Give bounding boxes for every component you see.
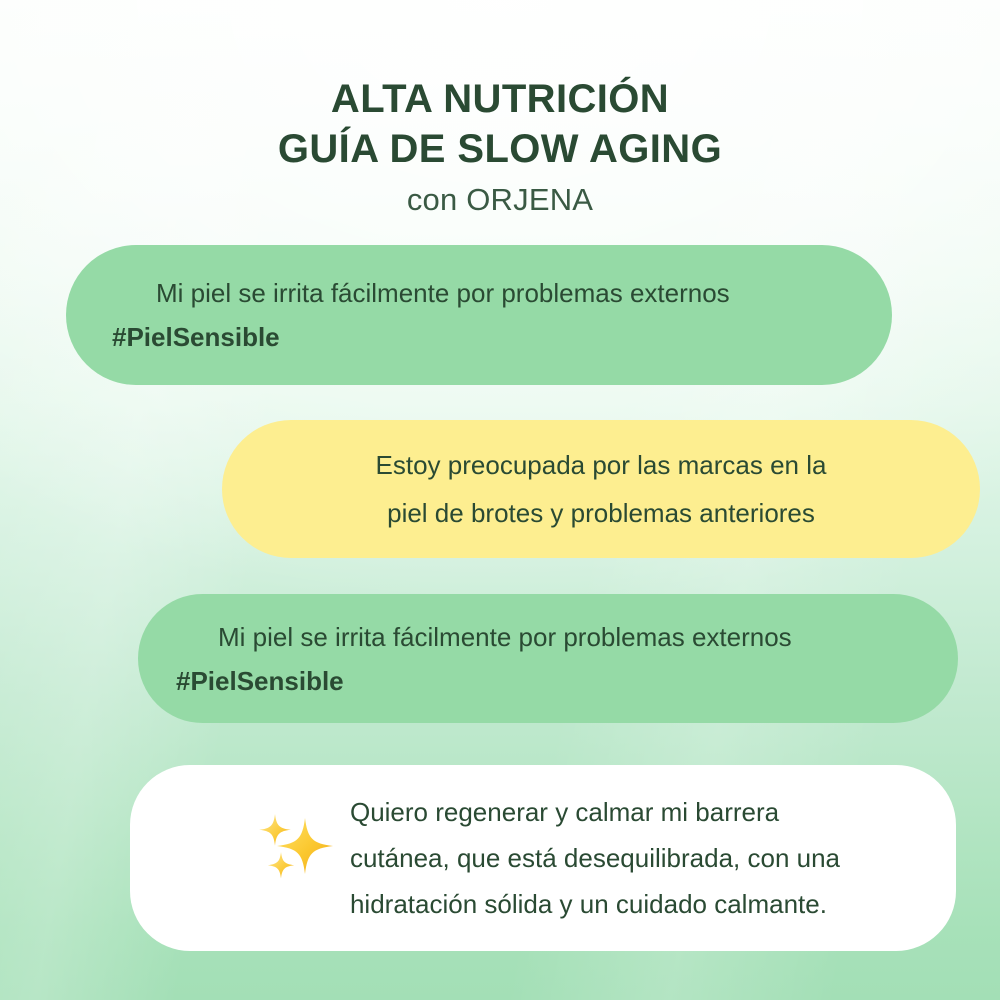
page-title-line-1: ALTA NUTRICIÓN [0,74,1000,124]
bubble-text-line: Mi piel se irrita fácilmente por problem… [112,271,730,315]
bubble-text-line: Mi piel se irrita fácilmente por problem… [176,615,792,659]
bubble-text-line: Estoy preocupada por las marcas en la [376,441,827,489]
sparkles-icon-wrapper [246,808,350,908]
speech-bubble-sensitive-skin-2: Mi piel se irrita fácilmente por problem… [138,594,958,723]
bubble-text-line: Quiero regenerar y calmar mi barrera [350,789,840,835]
speech-bubble-sensitive-skin-1: Mi piel se irrita fácilmente por problem… [66,245,892,385]
bubble-text-line: cutánea, que está desequilibrada, con un… [350,835,840,881]
bubble-hashtag: #PielSensible [112,315,280,359]
page-subtitle: con ORJENA [0,180,1000,220]
bubble-hashtag: #PielSensible [176,659,344,703]
bubble-text-line: piel de brotes y problemas anteriores [387,489,815,537]
page-title-line-2: GUÍA DE SLOW AGING [0,124,1000,174]
sparkles-icon [257,808,339,890]
poster-canvas: ALTA NUTRICIÓN GUÍA DE SLOW AGING con OR… [0,0,1000,1000]
speech-bubble-skin-goal: Quiero regenerar y calmar mi barrera cut… [130,765,956,951]
bubble-text-line: hidratación sólida y un cuidado calmante… [350,881,840,927]
bubble-text-block: Quiero regenerar y calmar mi barrera cut… [350,789,840,927]
speech-bubble-skin-marks: Estoy preocupada por las marcas en la pi… [222,420,980,558]
poster-header: ALTA NUTRICIÓN GUÍA DE SLOW AGING con OR… [0,74,1000,220]
